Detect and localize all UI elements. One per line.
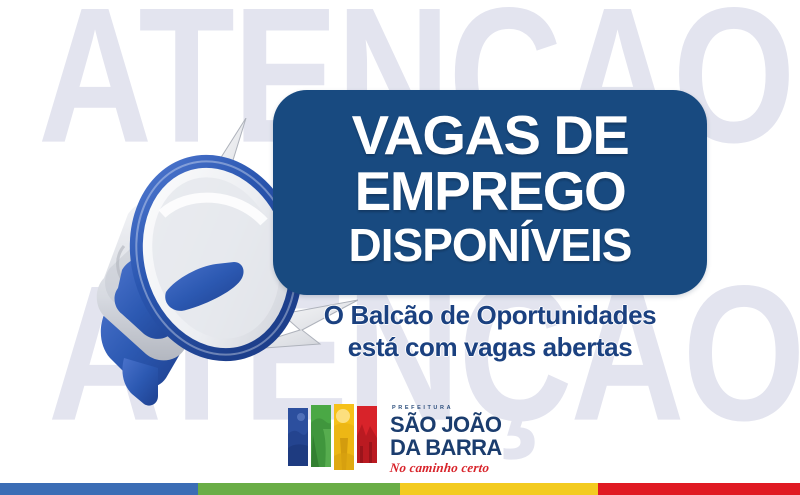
headline-text-block: VAGAS DE EMPREGO DISPONÍVEIS [273, 90, 707, 295]
logo-eyebrow: PREFEITURA [392, 406, 502, 412]
lightning-bolt-upper [204, 118, 254, 230]
megaphone-strut [165, 262, 243, 311]
subtitle-line-2: está com vagas abertas [273, 332, 707, 364]
headline-line-2: EMPREGO [299, 164, 681, 219]
stripe-segment-green [198, 483, 400, 495]
logo-panel-green [311, 405, 331, 467]
poster-canvas: ATENÇÃO ATENÇÃO [0, 0, 800, 495]
megaphone-handle [101, 291, 183, 406]
logo-line-2: DA BARRA [390, 437, 502, 459]
headline-panel: VAGAS DE EMPREGO DISPONÍVEIS [273, 90, 707, 295]
prefeitura-logo: PREFEITURA SÃO JOÃO DA BARRA No caminho … [288, 404, 513, 474]
subtitle-line-1: O Balcão de Oportunidades [273, 300, 707, 332]
headline-line-1: VAGAS DE [295, 108, 685, 163]
subtitle-block: O Balcão de Oportunidades está com vagas… [273, 300, 707, 363]
stripe-segment-blue [0, 483, 198, 495]
megaphone-body [97, 201, 234, 360]
bottom-color-stripe [0, 483, 800, 495]
headline-line-3: DISPONÍVEIS [299, 222, 681, 268]
logo-line-1: SÃO JOÃO [390, 414, 502, 436]
logo-panel-red [357, 406, 377, 463]
logo-panel-yellow [334, 404, 354, 470]
logo-tagline: No caminho certo [389, 461, 502, 474]
logo-color-panels [288, 404, 380, 474]
stripe-segment-red [598, 483, 800, 495]
logo-text-block: PREFEITURA SÃO JOÃO DA BARRA No caminho … [390, 404, 502, 474]
stripe-segment-yellow [400, 483, 598, 495]
logo-panel-blue [288, 408, 308, 466]
